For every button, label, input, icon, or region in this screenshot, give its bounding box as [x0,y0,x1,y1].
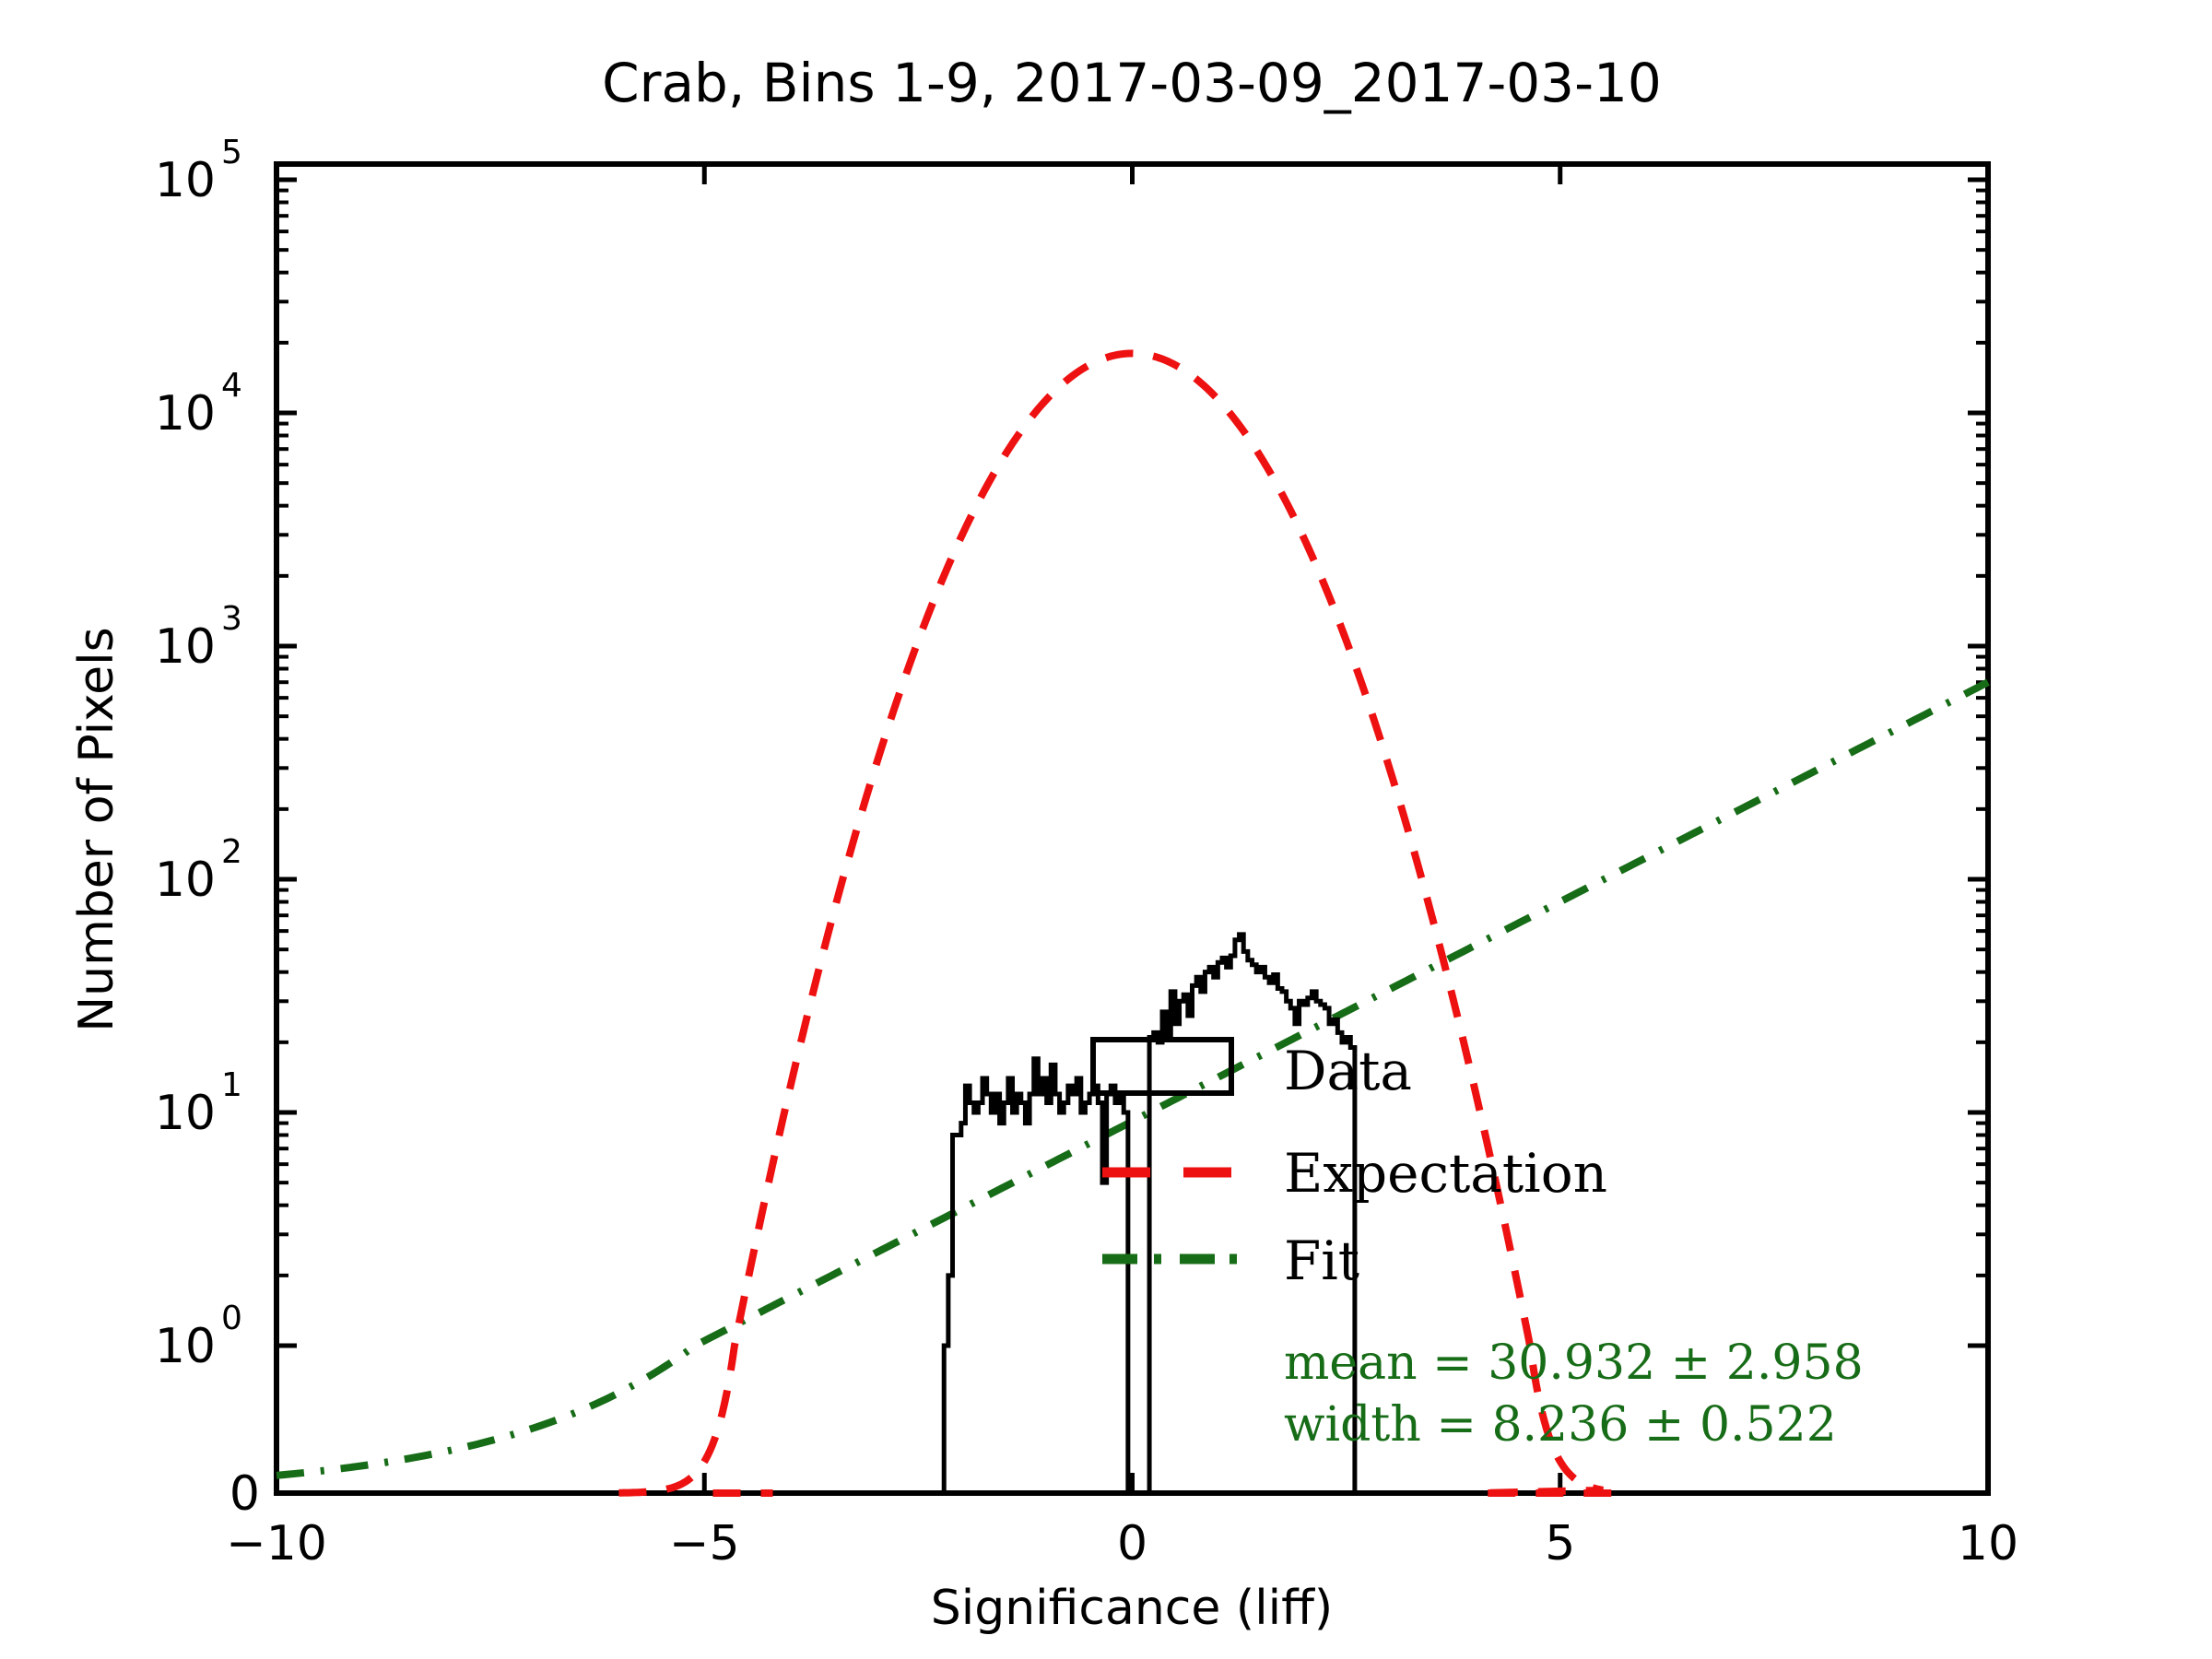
y-tick-exponent: 0 [221,1300,242,1337]
chart-legend: Data Expectation Fit [1093,1040,1607,1292]
x-tick-label: 0 [1117,1516,1147,1571]
data-series-group [276,353,1988,1493]
y-tick-label: 10 [155,853,216,908]
legend-label-fit: Fit [1284,1230,1359,1292]
y-tick-label: 10 [155,1086,216,1141]
y-tick-label: 10 [155,619,216,675]
y-tick-label: 10 [155,153,216,208]
annotation-mean: mean = 30.932 ± 2.958 [1284,1335,1864,1391]
chart-title: Crab, Bins 1-9, 2017-03-09_2017-03-10 [602,52,1662,114]
x-tick-label: −10 [226,1516,327,1571]
legend-label-expectation: Expectation [1284,1142,1607,1205]
y-tick-exponent: 2 [221,833,242,871]
y-axis-ticks: 0100101102103104105 [155,134,1988,1522]
x-axis-label: Significance (liff) [931,1581,1333,1636]
y-tick-exponent: 1 [221,1066,242,1104]
y-tick-exponent: 4 [221,367,242,405]
figure-canvas: Crab, Bins 1-9, 2017-03-09_2017-03-10 −1… [0,0,2212,1659]
y-tick-label: 0 [229,1466,260,1522]
x-tick-label: 5 [1545,1516,1575,1571]
y-tick-label: 10 [155,386,216,441]
y-tick-exponent: 3 [221,600,242,638]
expectation-curve [618,353,1611,1493]
legend-label-data: Data [1284,1040,1412,1102]
y-tick-label: 10 [155,1319,216,1374]
y-tick-exponent: 5 [221,134,242,171]
x-tick-label: 10 [1958,1516,2018,1571]
significance-histogram-chart: Crab, Bins 1-9, 2017-03-09_2017-03-10 −1… [0,0,2212,1659]
y-axis-label: Number of Pixels [69,627,124,1031]
plot-frame [276,164,1988,1493]
annotation-width: width = 8.236 ± 0.522 [1284,1397,1837,1453]
x-tick-label: −5 [669,1516,740,1571]
